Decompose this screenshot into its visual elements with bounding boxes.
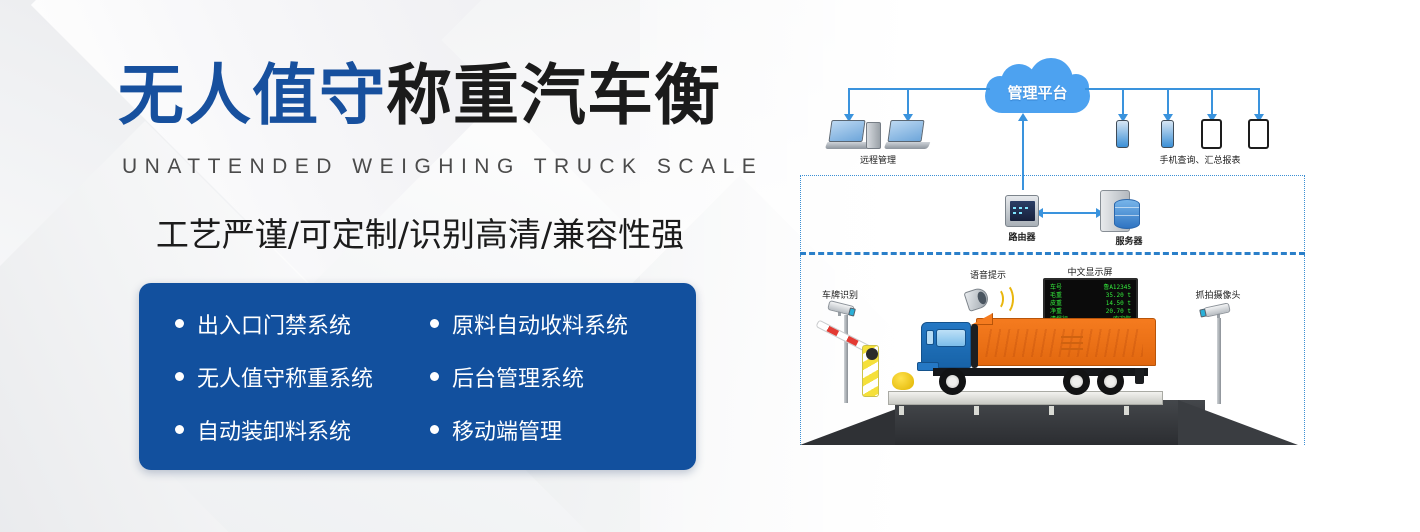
truck-wheel [1063,368,1090,395]
feature-list-box: 出入口门禁系统 原料自动收料系统 无人值守称重系统 后台管理系统 自动装卸料系统 [139,283,696,470]
led-cell-value: 鲁A12345 [1103,284,1131,292]
feature-label: 原料自动收料系统 [452,308,628,340]
bullet-icon [175,319,184,328]
page-title: 无人值守称重汽车衡 [118,58,721,134]
wire-right-drop-4 [1258,88,1260,116]
system-diagram: 管理平台 远程管理 [770,0,1420,532]
feature-grid: 出入口门禁系统 原料自动收料系统 无人值守称重系统 后台管理系统 自动装卸料系统 [139,297,696,456]
truck-bed-rib [1061,336,1083,338]
led-row: 毛重 35.20 t [1050,292,1131,300]
promo-banner: 无人值守称重汽车衡 UNATTENDED WEIGHING TRUCK SCAL… [0,0,1420,532]
computer-tower-icon [866,122,881,149]
truck-bed-rib [1061,342,1083,344]
feature-label: 出入口门禁系统 [197,308,351,340]
label-server: 服务器 [1095,234,1163,247]
camera-pole [844,315,848,403]
truck-window [936,329,966,347]
led-cell-label: 车号 [1050,284,1062,292]
feature-label: 自动装卸料系统 [197,414,351,446]
label-mobile-query: 手机查询、汇总报表 [1115,153,1285,166]
label-remote-management: 远程管理 [828,153,928,166]
led-row: 皮重 14.50 t [1050,300,1131,308]
bullet-icon [175,425,184,434]
led-cell-label: 皮重 [1050,300,1062,308]
wire-left-drop-1 [848,88,850,116]
label-plate-recognition: 车牌识别 [800,288,880,301]
smartphone-icon [1116,120,1129,148]
feature-label: 无人值守称重系统 [197,361,373,393]
label-led-display: 中文显示屏 [1045,265,1135,278]
camera-pole [1217,318,1221,404]
truck-wheel [1097,368,1124,395]
list-item[interactable]: 移动端管理 [430,414,696,446]
list-item[interactable]: 后台管理系统 [430,361,696,393]
wire-right-drop-2 [1167,88,1169,116]
database-icon [1114,199,1140,229]
list-item[interactable]: 出入口门禁系统 [175,308,430,340]
label-router: 路由器 [988,230,1056,243]
list-item[interactable]: 原料自动收料系统 [430,308,696,340]
bullet-icon [175,372,184,381]
tagline: 工艺严谨/可定制/识别高清/兼容性强 [120,208,720,256]
led-cell-value: 35.20 t [1106,292,1131,300]
truck-wheel [939,368,966,395]
wire-right-drop-1 [1122,88,1124,116]
wire-left-trunk [848,88,990,90]
cloud-icon: 管理平台 [985,62,1090,116]
label-capture-camera: 抓拍摄像头 [1168,288,1268,301]
smartphone-icon [1161,120,1174,148]
headline-rest: 称重汽车衡 [386,57,721,134]
text-block: 无人值守称重汽车衡 UNATTENDED WEIGHING TRUCK SCAL… [0,0,740,532]
laptop-icon [885,120,929,150]
label-voice-prompt: 语音提示 [948,268,1028,281]
truck-bed-rib [1061,348,1083,350]
truck-exhaust [971,324,978,368]
router-icon [1005,195,1039,227]
bullet-icon [430,319,439,328]
tablet-icon [1248,119,1269,149]
tablet-icon [1201,119,1222,149]
wire-right-drop-3 [1211,88,1213,116]
barrier-pivot [866,348,878,360]
cloud-label: 管理平台 [985,82,1090,103]
wire-right-trunk [1085,88,1260,90]
headline-highlight: 无人值守 [118,57,386,134]
wire-router-server [1042,212,1096,214]
led-row: 车号 鲁A12345 [1050,284,1131,292]
bullet-icon [430,425,439,434]
bullet-icon [430,372,439,381]
wire-router-uplink [1022,120,1024,190]
desktop-computer-icon [826,120,870,150]
arrow-up-icon [1018,113,1028,121]
subtitle-english: UNATTENDED WEIGHING TRUCK SCALE [122,155,718,179]
dump-truck-illustration [913,310,1168,395]
traffic-cone-icon [892,372,914,390]
truck-window-side [926,330,934,345]
led-cell-value: 14.50 t [1106,300,1131,308]
truck-mudflap [1135,368,1144,384]
wire-left-drop-2 [907,88,909,116]
led-cell-label: 毛重 [1050,292,1062,300]
list-item[interactable]: 无人值守称重系统 [175,361,430,393]
list-item[interactable]: 自动装卸料系统 [175,414,430,446]
feature-label: 移动端管理 [452,414,562,446]
feature-label: 后台管理系统 [452,361,584,393]
